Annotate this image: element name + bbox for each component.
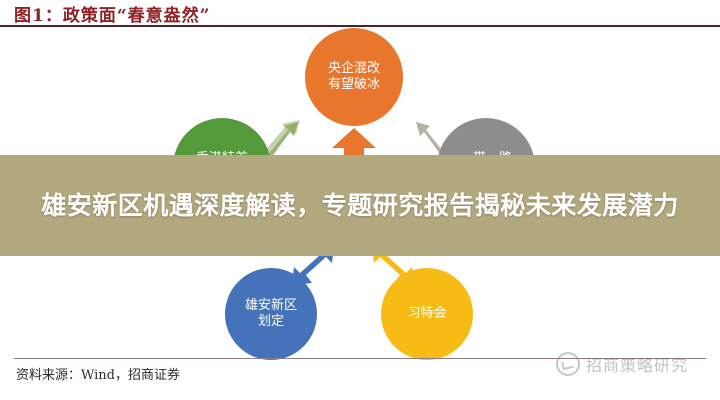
node-xiongan-new-area[interactable]: 雄安新区 划定 [225, 268, 317, 360]
node-xi-trump-summit[interactable]: 习特会 [381, 268, 473, 360]
figure-title: 图1：政策面“春意盎然” [14, 1, 210, 26]
source-note: 资料来源：Wind，招商证券 [16, 364, 180, 383]
watermark-label: 招商策略研究 [586, 352, 688, 376]
brand-logo-icon [556, 352, 580, 376]
node-label-line-2: 划定 [258, 314, 284, 330]
node-label-line-1: 雄安新区 [245, 298, 297, 314]
node-central-soe-reform[interactable]: 央企混改 有望破冰 [305, 28, 403, 126]
watermark: 招商策略研究 [556, 352, 688, 376]
node-label-line-2: 有望破冰 [328, 77, 380, 93]
caption-overlay-band: 雄安新区机遇深度解读，专题研究报告揭秘未来发展潜力 [0, 155, 720, 256]
node-label-line-1: 习特会 [407, 306, 446, 322]
figure-canvas: 图1：政策面“春意盎然” 央企混改 有望破冰 香港特首 选举落定 一带一路 战略… [0, 0, 720, 400]
caption-text: 雄安新区机遇深度解读，专题研究报告揭秘未来发展潜力 [36, 189, 684, 222]
node-label-line-1: 央企混改 [328, 61, 380, 77]
title-divider [0, 25, 720, 27]
